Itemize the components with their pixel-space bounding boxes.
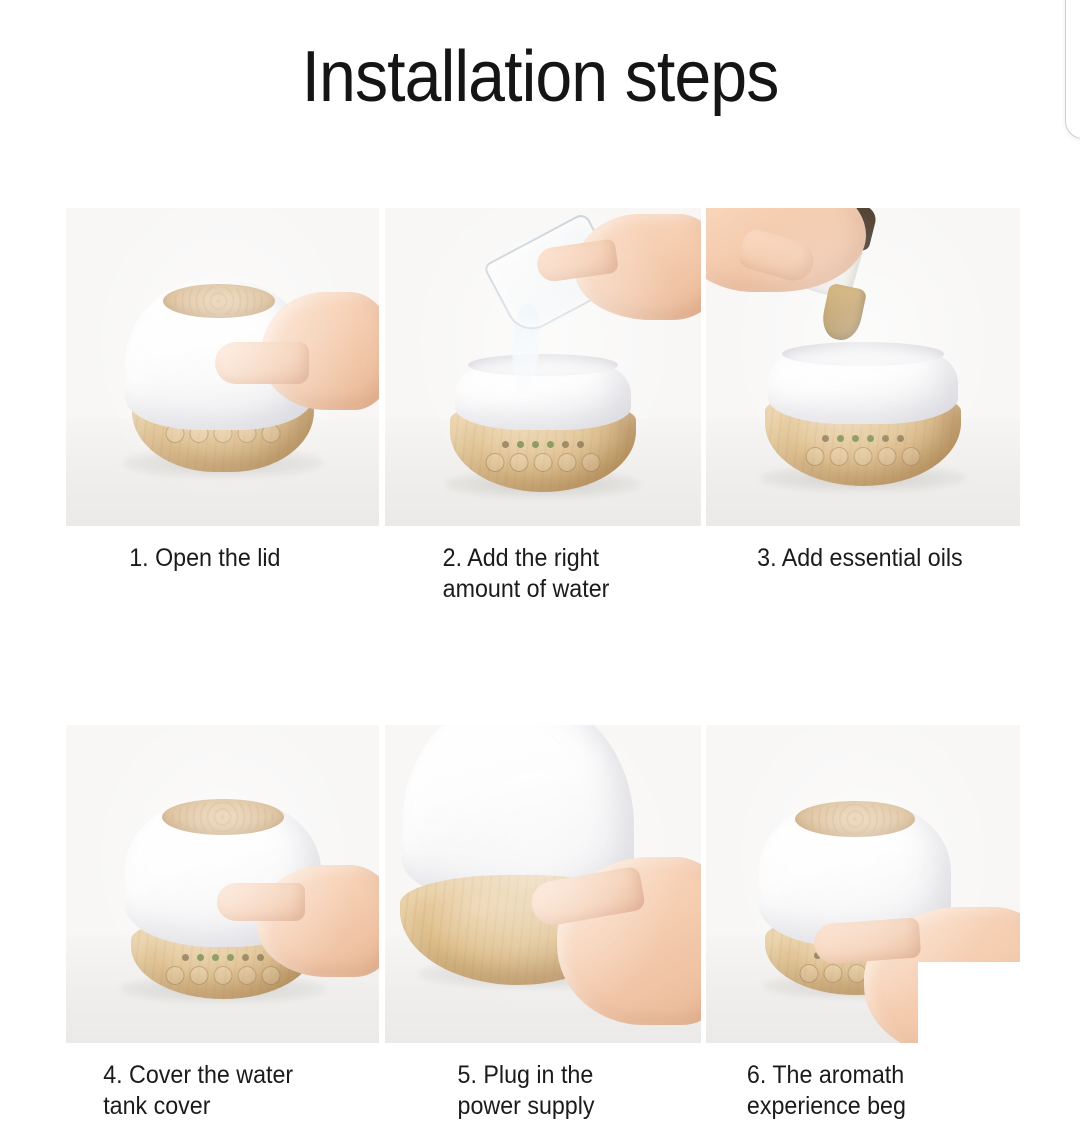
- vent-hole: [502, 441, 509, 448]
- diffuser-wood-top: [162, 799, 284, 835]
- control-button[interactable]: [878, 447, 897, 466]
- vent-hole: [532, 441, 539, 448]
- control-button-row[interactable]: [486, 453, 601, 472]
- control-button[interactable]: [558, 453, 577, 472]
- step-caption-6: 6. The aromath experience beg: [706, 1060, 998, 1122]
- step-caption-2: 2. Add the right amount of water: [385, 543, 679, 605]
- vent-hole: [182, 954, 189, 961]
- vent-hole: [577, 441, 584, 448]
- indicator-holes: [822, 435, 904, 442]
- thumb: [215, 342, 309, 384]
- tank-opening: [782, 342, 944, 366]
- caption-line-1: 5. Plug in the: [458, 1060, 679, 1091]
- vent-hole: [897, 435, 904, 442]
- vent-hole: [547, 441, 554, 448]
- control-button[interactable]: [854, 447, 873, 466]
- control-button[interactable]: [510, 453, 529, 472]
- caption-line-1: 6. The aromath: [747, 1060, 998, 1091]
- vent-hole: [562, 441, 569, 448]
- step-photo-1: [66, 208, 379, 526]
- control-button[interactable]: [902, 447, 921, 466]
- vent-hole: [867, 435, 874, 442]
- control-button[interactable]: [800, 964, 819, 983]
- caption-line-1: 2. Add the right: [443, 543, 679, 574]
- vent-hole: [882, 435, 889, 442]
- caption-line-2: power supply: [458, 1091, 679, 1122]
- indicator-holes: [182, 954, 264, 961]
- vent-hole: [242, 954, 249, 961]
- control-button[interactable]: [486, 453, 505, 472]
- indicator-holes: [502, 441, 584, 448]
- index-finger: [813, 917, 922, 964]
- control-button[interactable]: [830, 447, 849, 466]
- vent-hole: [227, 954, 234, 961]
- step-caption-1: 1. Open the lid: [66, 543, 357, 574]
- step-card-1[interactable]: 1. Open the lid: [66, 208, 379, 605]
- step-card-3[interactable]: 3. Add essential oils: [706, 208, 1020, 605]
- control-button[interactable]: [213, 966, 232, 985]
- control-button[interactable]: [189, 966, 208, 985]
- installation-steps-page: { "page": { "title": "Installation steps…: [0, 0, 1080, 1047]
- vent-hole: [837, 435, 844, 442]
- step-caption-4: 4. Cover the water tank cover: [66, 1060, 357, 1122]
- step-photo-3: [706, 208, 1020, 526]
- top-right-sheet-overlay[interactable]: [1065, 0, 1080, 139]
- caption-line-1: 4. Cover the water: [103, 1060, 357, 1091]
- control-button[interactable]: [534, 453, 553, 472]
- steps-row-2: 4. Cover the water tank cover 5.: [66, 725, 1020, 1122]
- caption-line-2: tank cover: [103, 1091, 357, 1122]
- step-photo-5: [385, 725, 701, 1043]
- step-card-4[interactable]: 4. Cover the water tank cover: [66, 725, 379, 1122]
- step-card-2[interactable]: 2. Add the right amount of water: [385, 208, 701, 605]
- caption-line-2: experience beg: [747, 1091, 998, 1122]
- control-button-row[interactable]: [806, 447, 921, 466]
- vent-hole: [822, 435, 829, 442]
- diffuser-wood-top: [163, 284, 275, 318]
- control-button[interactable]: [806, 447, 825, 466]
- step-card-5[interactable]: 5. Plug in the power supply: [385, 725, 701, 1122]
- control-button[interactable]: [824, 964, 843, 983]
- step-caption-5: 5. Plug in the power supply: [385, 1060, 679, 1122]
- steps-row-1: 1. Open the lid: [66, 208, 1020, 605]
- step-photo-4: [66, 725, 379, 1043]
- diffuser-wood-top: [795, 801, 915, 837]
- steps-grid: 1. Open the lid: [66, 208, 1020, 1122]
- control-button-row[interactable]: [165, 966, 280, 985]
- tank-opening: [468, 354, 618, 376]
- vent-hole: [852, 435, 859, 442]
- step-caption-3: 3. Add essential oils: [706, 543, 998, 574]
- control-button[interactable]: [261, 966, 280, 985]
- vent-hole: [517, 441, 524, 448]
- vent-hole: [257, 954, 264, 961]
- caption-clip-mask: [918, 962, 1080, 1047]
- step-photo-2: [385, 208, 701, 526]
- step-card-6[interactable]: 6. The aromath experience beg: [706, 725, 1020, 1122]
- control-button[interactable]: [582, 453, 601, 472]
- vent-hole: [212, 954, 219, 961]
- control-button[interactable]: [165, 966, 184, 985]
- vent-hole: [197, 954, 204, 961]
- control-button-row[interactable]: [800, 964, 867, 983]
- thumb: [217, 883, 305, 921]
- control-button[interactable]: [237, 966, 256, 985]
- caption-line-2: amount of water: [443, 574, 679, 605]
- page-title: Installation steps: [43, 34, 1037, 120]
